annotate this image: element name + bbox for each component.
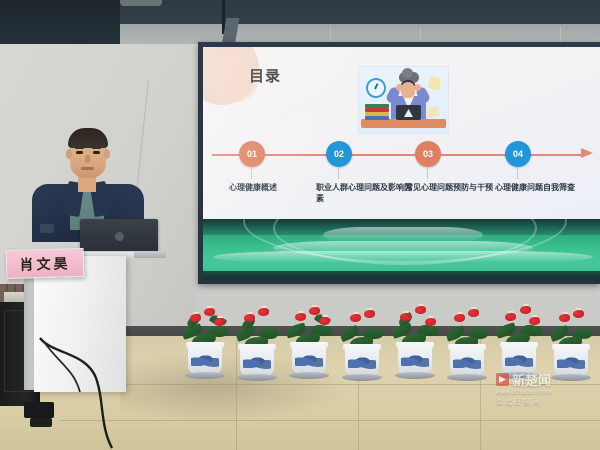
timeline-label-02: 职业人群心理问题及影响因素: [316, 182, 412, 204]
timeline-number-badge: 03: [415, 141, 441, 167]
ceiling-dark-panel: [0, 0, 120, 46]
eyebrow: [75, 147, 84, 149]
head-shape: [401, 82, 415, 98]
timeline-stem: [427, 167, 428, 179]
speaker-name-text: 肖文昊: [19, 253, 71, 274]
timeline-stem: [251, 167, 252, 179]
nose: [85, 155, 90, 163]
presentation-slide: 目录: [203, 47, 600, 219]
hair: [68, 128, 108, 148]
neck: [78, 176, 96, 192]
watermark-logo-icon: [496, 373, 509, 386]
floor-cable: [0, 330, 300, 450]
timeline-node-01[interactable]: 01 心理健康概述: [239, 141, 265, 167]
mouth: [81, 167, 94, 170]
jacket-pocket: [40, 224, 54, 233]
laptop-icon: [396, 105, 421, 120]
paper-icon: [426, 106, 440, 118]
watermark-brand-text: 新楚闻: [512, 370, 551, 389]
hand-shape: [414, 84, 421, 91]
ear: [66, 149, 72, 159]
ear: [104, 149, 110, 159]
watermark-brand-row: 新楚闻: [496, 370, 594, 389]
timeline-label-04: 心理健康问题自我筛查: [495, 182, 591, 193]
watermark-subtitle: 湖北日报网: [496, 397, 594, 407]
timeline-number-badge: 01: [239, 141, 265, 167]
stage-platform: [213, 251, 593, 263]
books-stack-icon: [365, 104, 389, 120]
presentation-photo: 目录: [0, 0, 600, 450]
timeline-label-03: 常见心理问题预防与干预: [405, 182, 501, 193]
ceiling-light-fixture: [120, 0, 162, 6]
eyebrow: [92, 147, 101, 149]
stage-base: [203, 271, 600, 279]
hand-shape: [396, 84, 403, 91]
timeline-node-03[interactable]: 03 常见心理问题预防与干预: [415, 141, 441, 167]
speaker-nameplate: 肖文昊: [6, 248, 85, 279]
timeline-node-04[interactable]: 04 心理健康问题自我筛查: [505, 141, 531, 167]
timeline-stem: [338, 167, 339, 179]
eye: [76, 151, 83, 154]
stage-backdrop-graphic: [203, 219, 600, 279]
timeline-number-badge: 02: [326, 141, 352, 167]
slide-title: 目录: [249, 65, 281, 86]
timeline-label-01: 心理健康概述: [229, 182, 325, 193]
laptop-logo-icon: [115, 232, 124, 241]
desk-shape: [361, 119, 446, 128]
timeline-node-02[interactable]: 02 职业人群心理问题及影响因素: [326, 141, 352, 167]
timeline-arrow-icon: [581, 148, 593, 158]
stressed-worker-illustration: [358, 66, 449, 134]
projection-screen[interactable]: 目录: [203, 47, 600, 279]
timeline-number-badge: 04: [505, 141, 531, 167]
clock-icon: [366, 78, 386, 98]
watermark-url: www.cnhubei.com: [496, 390, 594, 396]
paper-icon: [428, 76, 442, 90]
watermark: 新楚闻 www.cnhubei.com 湖北日报网: [496, 370, 594, 400]
laptop-screen[interactable]: [80, 219, 158, 253]
timeline-stem: [517, 167, 518, 179]
eye: [93, 151, 100, 154]
